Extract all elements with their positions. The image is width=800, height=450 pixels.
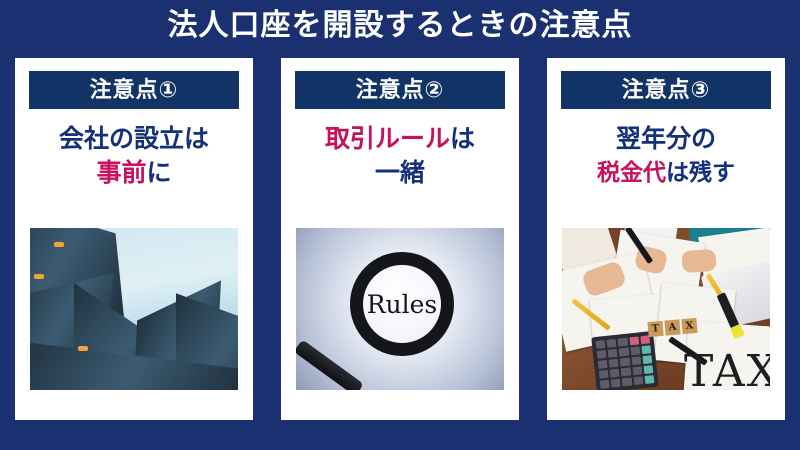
calc-key: [643, 365, 653, 374]
slide-title-bar: 法人口座を開設するときの注意点: [0, 0, 800, 52]
card-point-3[interactable]: 注意点③ 翌年分の 税金代は残す: [547, 58, 785, 420]
card-2-copy-line-2: 一緒: [295, 157, 505, 191]
tax-poster-word: TAX: [684, 350, 770, 390]
calc-key: [600, 380, 610, 389]
calc-key: [607, 339, 617, 348]
calc-key: [598, 360, 608, 369]
calculator-shape: [591, 331, 659, 390]
slide-root: 法人口座を開設するときの注意点 注意点① 会社の設立は 事前に: [0, 0, 800, 450]
calc-key: [642, 355, 652, 364]
calc-key: [641, 345, 651, 354]
calc-key: [630, 346, 640, 355]
calc-key: [620, 358, 630, 367]
card-1-copy-rest: に: [147, 159, 172, 187]
card-1-copy: 会社の設立は 事前に: [29, 109, 239, 199]
card-2-copy-highlight: 取引ルール: [325, 125, 450, 153]
card-2-copy-line-1: 取引ルールは: [295, 123, 505, 157]
calc-key: [631, 356, 641, 365]
card-1-header-label: 注意点①: [90, 79, 179, 101]
calc-key: [619, 348, 629, 357]
card-3-header-label: 注意点③: [622, 79, 711, 101]
skyscrapers-photo: [30, 228, 238, 390]
card-row: 注意点① 会社の設立は 事前に: [15, 58, 785, 420]
tax-letter-block: T: [647, 321, 663, 337]
calc-key: [597, 350, 607, 359]
tax-letter-block: A: [664, 319, 680, 335]
calc-key: [608, 349, 618, 358]
card-1-copy-line-1-text: 会社の設立は: [59, 125, 209, 153]
magnifier-word: Rules: [350, 252, 454, 356]
calc-key: [621, 367, 631, 376]
card-point-1[interactable]: 注意点① 会社の設立は 事前に: [15, 58, 253, 420]
hand-shape: [681, 249, 716, 273]
window-glint: [54, 242, 64, 247]
card-1-copy-line-1: 会社の設立は: [29, 123, 239, 157]
calc-key: [644, 375, 654, 384]
card-1-copy-highlight: 事前: [96, 159, 146, 187]
magnifier-rules-photo: Rules: [296, 228, 504, 390]
card-3-copy-line-1: 翌年分の: [561, 123, 771, 157]
calc-key: [610, 369, 620, 378]
calc-key: [632, 366, 642, 375]
card-1-copy-line-2: 事前に: [29, 157, 239, 191]
window-glint: [78, 346, 88, 351]
tax-letter-block: X: [681, 318, 697, 334]
card-2-copy: 取引ルールは 一緒: [295, 109, 505, 199]
calc-key: [609, 359, 619, 368]
card-3-copy-highlight: 税金代: [597, 159, 666, 185]
calc-key: [618, 338, 628, 347]
card-3-header: 注意点③: [561, 71, 771, 109]
calc-key: [633, 376, 643, 385]
calc-key: [596, 340, 606, 349]
tax-desk-photo: T A X TAX: [562, 228, 770, 390]
card-3-copy-line-2: 税金代は残す: [561, 157, 771, 188]
card-2-header-label: 注意点②: [356, 79, 445, 101]
card-3-copy-line-1-text: 翌年分の: [616, 125, 716, 153]
window-glint: [34, 274, 44, 279]
page-title: 法人口座を開設するときの注意点: [168, 11, 633, 41]
calc-key: [622, 377, 632, 386]
card-point-2[interactable]: 注意点② 取引ルールは 一緒 Rules: [281, 58, 519, 420]
card-1-header: 注意点①: [29, 71, 239, 109]
card-2-copy-line-2-text: 一緒: [375, 159, 425, 187]
calc-key: [629, 336, 639, 345]
calc-key: [599, 370, 609, 379]
card-3-copy-rest: は残す: [666, 159, 735, 185]
card-2-header: 注意点②: [295, 71, 505, 109]
card-3-copy: 翌年分の 税金代は残す: [561, 109, 771, 196]
card-2-copy-rest: は: [450, 125, 475, 153]
calc-key: [611, 379, 621, 388]
